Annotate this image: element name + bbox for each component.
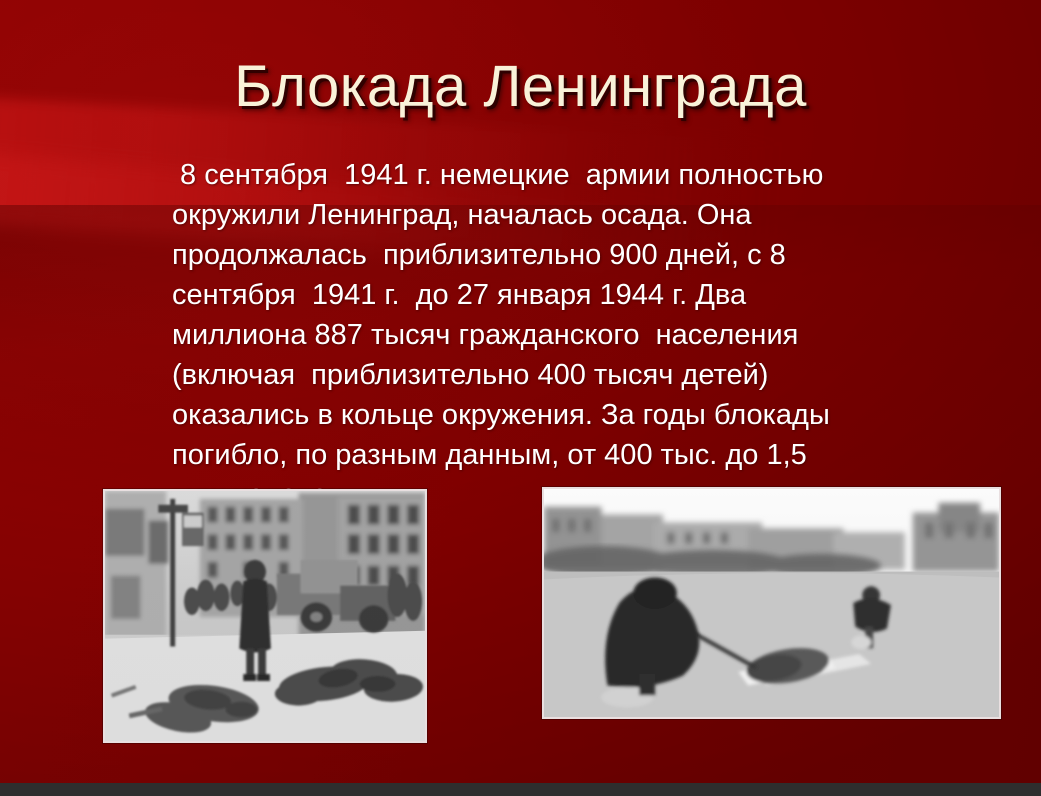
photo-right-image [544,489,999,717]
photo-leningrad-sled-winter [542,487,1001,719]
body-line: оказались в кольце окружения. За годы бл… [172,395,872,435]
bottom-bar [0,783,1041,796]
presentation-slide: Блокада Ленинграда 8 сентября 1941 г. не… [0,0,1041,796]
slide-title: Блокада Ленинграда [0,56,1041,119]
body-line: погибло, по разным данным, от 400 тыс. д… [172,435,872,475]
slide-body-text: 8 сентября 1941 г. немецкие армии полнос… [172,155,872,515]
photo-left-image [105,491,425,741]
photo-leningrad-street-bodies [103,489,427,743]
body-line: сентября 1941 г. до 27 января 1944 г. Дв… [172,275,872,315]
body-line: (включая приблизительно 400 тысяч детей) [172,355,872,395]
body-line: продолжалась приблизительно 900 дней, с … [172,235,872,275]
body-line: миллиона 887 тысяч гражданского населени… [172,315,872,355]
body-line: окружили Ленинград, началась осада. Она [172,195,872,235]
body-line: 8 сентября 1941 г. немецкие армии полнос… [172,155,872,195]
